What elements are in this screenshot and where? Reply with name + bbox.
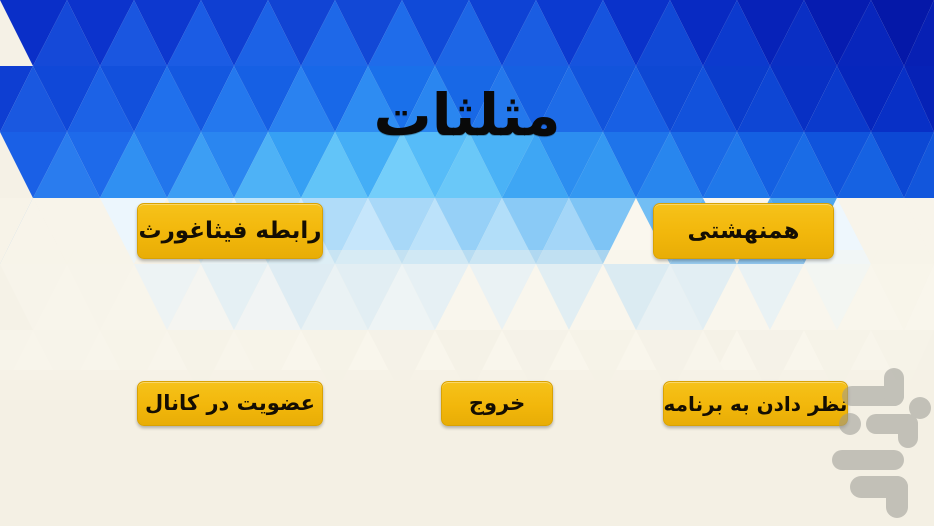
- pythagorean-relation-button[interactable]: رابطه فیثاغورث: [137, 203, 323, 259]
- exit-button[interactable]: خروج: [441, 381, 553, 426]
- join-channel-button-label: عضویت در کانال: [145, 393, 315, 414]
- rate-app-button-label: نظر دادن به برنامه: [664, 394, 848, 414]
- congruence-button-label: همنهشتی: [688, 220, 800, 243]
- congruence-button[interactable]: همنهشتی: [653, 203, 834, 259]
- pythagorean-relation-button-label: رابطه فیثاغورث: [138, 220, 321, 243]
- app-root: مثلثات رابطه فیثاغورث همنهشتی عضویت در ک…: [0, 0, 934, 526]
- low-poly-background: [0, 0, 934, 526]
- join-channel-button[interactable]: عضویت در کانال: [137, 381, 323, 426]
- rate-app-button[interactable]: نظر دادن به برنامه: [663, 381, 848, 426]
- page-title: مثلثات: [0, 86, 934, 144]
- exit-button-label: خروج: [469, 393, 525, 414]
